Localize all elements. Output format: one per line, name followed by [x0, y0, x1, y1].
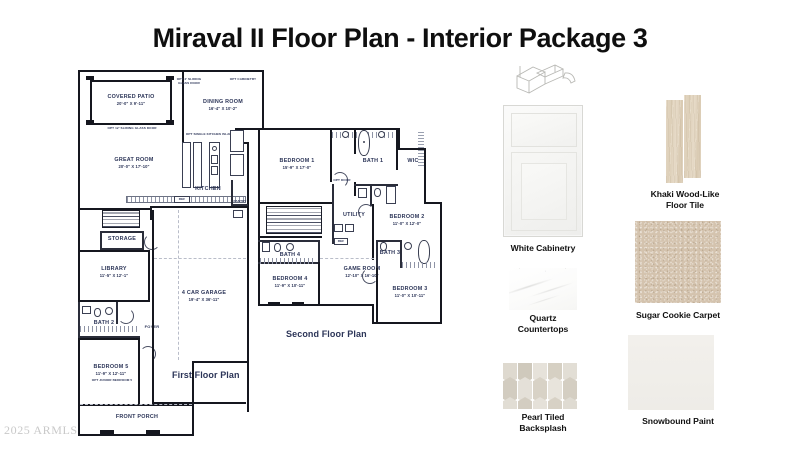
room-label-covered-patio: COVERED PATIO 20'-0" X 9'-11"	[92, 94, 170, 106]
wall	[192, 361, 248, 363]
pearl-tiled-backsplash-swatch	[503, 363, 583, 409]
kitchen-island	[182, 142, 191, 188]
note-opt-4-sliding-glass-door: OPT 4' SLIDING GLASS DOOR	[176, 77, 202, 85]
wall	[258, 236, 322, 238]
swatch-label-pearl-tiled-backsplash: Pearl Tiled Backsplash	[483, 412, 603, 435]
wall	[90, 80, 172, 82]
window	[292, 302, 304, 306]
swatch-label-quartz-countertops: Quartz Countertops	[483, 313, 603, 336]
khaki-plank-tile-right	[684, 95, 701, 178]
porch-column	[146, 430, 160, 436]
crown-molding-icon	[515, 63, 585, 99]
sink-icon	[286, 243, 294, 251]
kitchen-island-opt	[193, 142, 202, 188]
toilet-icon	[94, 308, 101, 317]
sugar-cookie-carpet-swatch	[635, 221, 721, 303]
sink-icon	[404, 242, 412, 250]
note-ref: REF	[174, 197, 190, 201]
room-label-bath-1: BATH 1	[348, 158, 398, 165]
cabinetry	[230, 154, 244, 176]
cabinetry	[230, 130, 244, 152]
wall	[396, 130, 398, 170]
wall	[150, 206, 248, 208]
room-label-kitchen: KITCHEN	[178, 186, 238, 193]
wall	[332, 184, 334, 204]
wall	[258, 128, 400, 130]
closet-shelving	[418, 132, 424, 166]
wall	[318, 240, 320, 264]
vanity-counter	[402, 262, 438, 268]
wall	[170, 80, 172, 125]
linen-closet	[386, 186, 396, 204]
sink-basin	[211, 166, 218, 175]
wall	[262, 70, 264, 130]
cabinet-molding-illustration	[515, 63, 585, 99]
room-label-front-porch: FRONT PORCH	[104, 414, 170, 421]
washer-dryer	[233, 210, 243, 218]
staircase	[102, 210, 140, 228]
wall	[182, 70, 264, 72]
note-opt-door: OPT DOOR	[332, 178, 352, 182]
room-label-storage: STORAGE	[100, 236, 144, 243]
room-label-bedroom-5: BEDROOM 5 11'-9" X 12'-11"	[80, 364, 142, 376]
wall	[192, 404, 194, 436]
wall	[100, 231, 144, 233]
cabinet-door-panel	[511, 152, 577, 231]
sink-icon	[378, 131, 385, 138]
swatch-label-line: Quartz	[483, 313, 603, 324]
shower	[262, 242, 270, 252]
wall	[166, 120, 174, 125]
wall	[90, 123, 172, 125]
wall	[398, 128, 400, 150]
room-label-library: LIBRARY 11'-5" X 12'-1"	[82, 266, 146, 278]
door-swing-icon	[118, 308, 134, 324]
note-opt-12-sliding-glass-door: OPT 12' SLIDING GLASS DOOR	[86, 126, 178, 130]
room-label-bedroom-3: BEDROOM 3 11'-0" X 10'-11"	[380, 286, 440, 298]
quartz-countertop-swatch	[509, 268, 577, 310]
swatch-label-sugar-cookie-carpet: Sugar Cookie Carpet	[618, 310, 738, 321]
white-cabinet-door-swatch	[503, 105, 583, 237]
wall	[192, 361, 194, 406]
snowbound-paint-swatch	[628, 335, 714, 410]
room-label-pantry: PANTRY	[230, 199, 250, 203]
sink-basin	[211, 155, 218, 164]
note-ref: REF	[334, 239, 348, 243]
note-opt-cabinetry: OPT CABINETRY	[226, 77, 260, 81]
wall	[424, 148, 426, 204]
swatch-label-snowbound-paint: Snowbound Paint	[618, 416, 738, 427]
shower	[82, 306, 91, 314]
wall	[258, 128, 260, 246]
wall	[78, 302, 80, 338]
wall	[152, 210, 154, 406]
room-label-4-car-garage: 4 CAR GARAGE 19'-4" X 36'-11"	[164, 290, 244, 302]
wall	[78, 434, 194, 436]
wall	[78, 338, 140, 340]
wall	[372, 304, 374, 324]
sink-icon	[105, 307, 113, 315]
wall	[78, 250, 150, 252]
swatch-label-line: Khaki Wood-Like	[625, 189, 745, 200]
first-floor-plan: COVERED PATIO 20'-0" X 9'-11" OPT 12' SL…	[78, 68, 268, 413]
wall	[247, 142, 249, 412]
sink-icon	[342, 131, 349, 138]
swatch-label-line: Pearl Tiled	[483, 412, 603, 423]
swatch-label-white-cabinetry: White Cabinetry	[483, 243, 603, 254]
cooktop-burner-icon	[212, 146, 217, 151]
second-floor-plan: BEDROOM 1 15'-9" X 17'-0" OPT DOOR BATH …	[258, 128, 444, 343]
second-floor-caption: Second Floor Plan	[286, 329, 367, 339]
porch-outline	[80, 404, 192, 405]
swatch-label-line: Floor Tile	[625, 200, 745, 211]
swatch-label-khaki-wood-like-floor-tile: Khaki Wood-Like Floor Tile	[625, 189, 745, 212]
door-swing-icon	[358, 204, 374, 220]
room-label-bedroom-1: BEDROOM 1 15'-9" X 17'-0"	[264, 158, 330, 170]
dryer	[345, 224, 354, 232]
wall	[258, 244, 260, 306]
page-title: Miraval II Floor Plan - Interior Package…	[0, 23, 800, 54]
ceiling-line	[154, 258, 246, 259]
staircase	[266, 206, 322, 234]
room-label-great-room: GREAT ROOM 20'-0" X 17'-10"	[92, 157, 176, 169]
wall	[78, 70, 80, 406]
room-label-bath-3: BATH 3	[376, 250, 404, 257]
toilet-icon	[274, 243, 281, 252]
first-floor-caption: First Floor Plan	[172, 370, 240, 380]
note-opt-junior-bedroom-5: OPT JUNIOR BEDROOM 5	[84, 378, 140, 382]
swatch-label-line: Countertops	[483, 324, 603, 335]
vanity-counter	[80, 326, 138, 332]
shower	[358, 188, 367, 198]
wall	[166, 76, 174, 80]
room-label-bedroom-2: BEDROOM 2 11'-0" X 12'-0"	[376, 214, 438, 226]
wall	[372, 322, 442, 324]
ceiling-line	[178, 210, 179, 360]
wall	[320, 304, 374, 306]
khaki-plank-tile-left	[666, 100, 683, 183]
window	[268, 302, 280, 306]
watermark: 2025 ARMLS	[4, 423, 78, 438]
door-swing-icon	[362, 268, 378, 284]
vanity-counter	[260, 258, 316, 264]
porch-column	[100, 430, 114, 436]
wall	[370, 184, 372, 206]
bathtub-icon	[418, 240, 430, 264]
room-label-dining-room: DINING ROOM 16'-4" X 10'-2"	[186, 99, 260, 111]
room-label-bedroom-4: BEDROOM 4 11'-9" X 10'-11"	[260, 276, 320, 288]
wall	[440, 202, 442, 324]
floor-plan-marketing-page: Miraval II Floor Plan - Interior Package…	[0, 0, 800, 449]
wall	[78, 70, 184, 72]
wall	[258, 202, 332, 204]
wall	[86, 120, 94, 125]
ceiling-line	[320, 258, 374, 259]
washer	[334, 224, 343, 232]
wall	[148, 250, 150, 302]
wall	[78, 404, 80, 436]
wall	[78, 300, 150, 302]
toilet-icon	[374, 188, 381, 197]
wall	[376, 240, 402, 242]
swatch-label-line: Backsplash	[483, 423, 603, 434]
wall	[86, 76, 94, 80]
cabinet-drawer-front	[511, 113, 577, 147]
